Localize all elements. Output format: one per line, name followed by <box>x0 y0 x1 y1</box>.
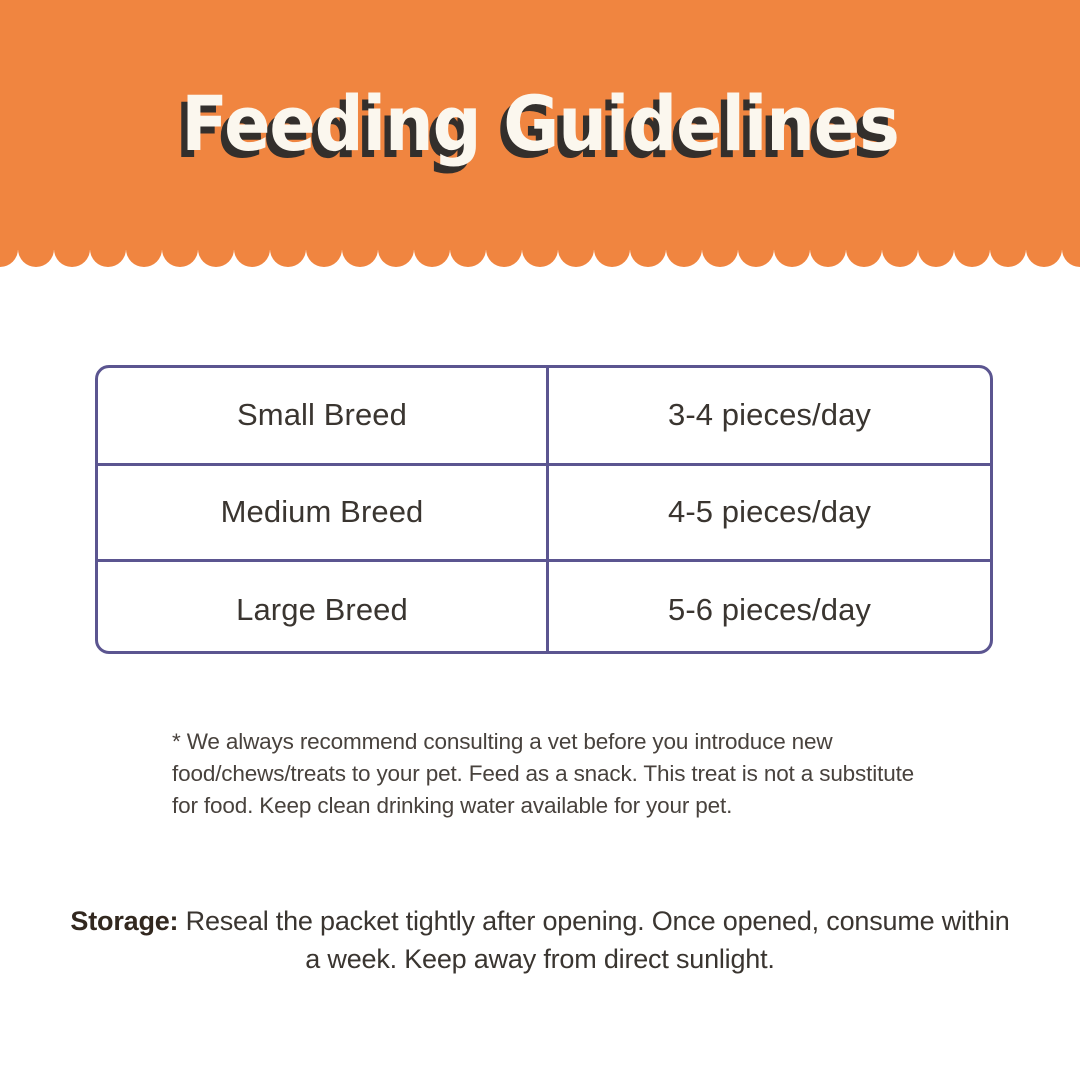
table-cell-breed: Small Breed <box>98 368 548 464</box>
table-cell-serving: 4-5 pieces/day <box>548 464 991 560</box>
storage-instructions: Storage: Reseal the packet tightly after… <box>70 902 1010 978</box>
table-cell-serving: 5-6 pieces/day <box>548 561 991 654</box>
storage-label: Storage: <box>70 906 178 936</box>
table-cell-serving: 3-4 pieces/day <box>548 368 991 464</box>
table-cell-breed: Large Breed <box>98 561 548 654</box>
table-row: Large Breed 5-6 pieces/day <box>98 561 990 654</box>
feeding-guidelines-table: Small Breed 3-4 pieces/day Medium Breed … <box>95 365 993 654</box>
page-title: Feeding Guidelines <box>54 0 1026 248</box>
scalloped-edge-decoration <box>0 248 1080 270</box>
table-cell-breed: Medium Breed <box>98 464 548 560</box>
header-banner: Feeding Guidelines <box>0 0 1080 248</box>
vet-disclaimer-note: * We always recommend consulting a vet b… <box>172 726 932 822</box>
storage-text: Reseal the packet tightly after opening.… <box>178 906 1009 974</box>
table-row: Small Breed 3-4 pieces/day <box>98 368 990 464</box>
table-row: Medium Breed 4-5 pieces/day <box>98 464 990 560</box>
